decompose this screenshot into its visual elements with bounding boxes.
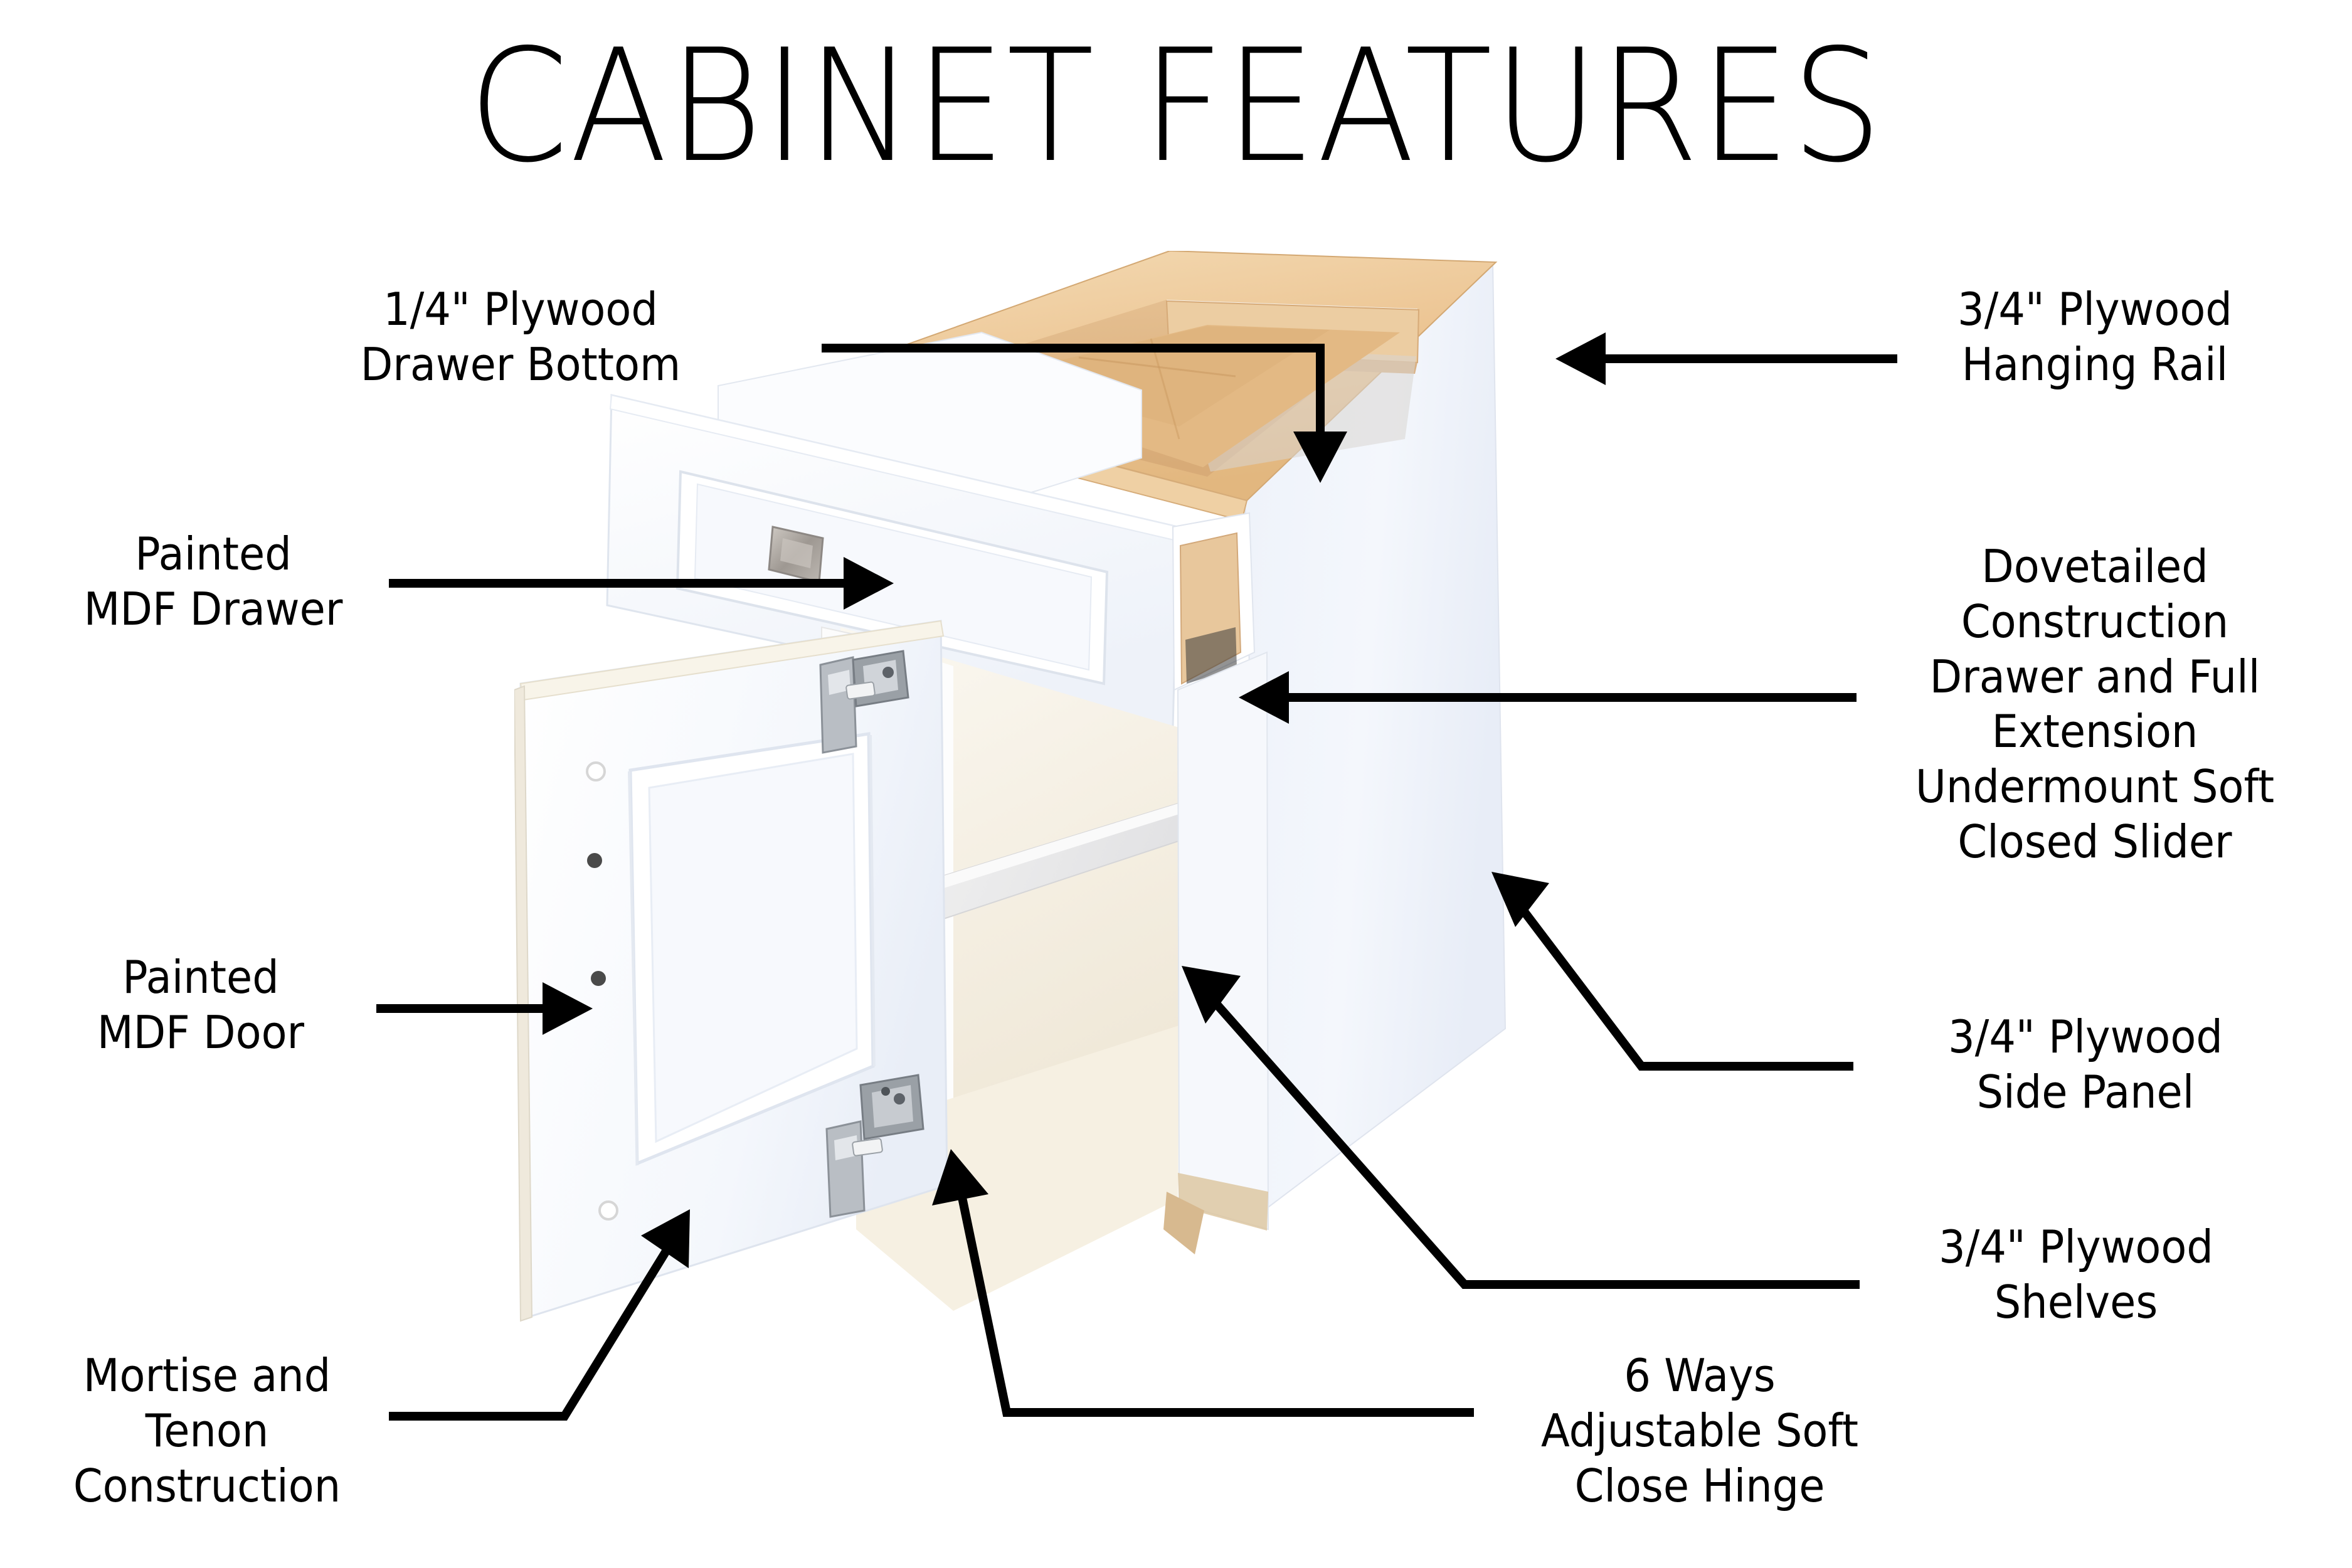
hinge-screw-top [587,853,602,868]
hinge-screw-bottom [591,971,606,986]
door-bumper-bottom [600,1202,617,1219]
label-dovetailed: Dovetailed Construction Drawer and Full … [1885,539,2305,870]
label-shelves: 3/4" Plywood Shelves [1889,1220,2262,1330]
door-bumper-top [587,763,605,780]
label-hinge: 6 Ways Adjustable Soft Close Hinge [1496,1348,1904,1513]
label-drawer-bottom: 1/4" Plywood Drawer Bottom [358,282,684,393]
label-painted-mdf-drawer: Painted MDF Drawer [50,527,377,637]
poster-canvas: CABINET FEATURES [0,0,2352,1568]
cabinet-photo [514,251,1769,1430]
page-title: CABINET FEATURES [94,25,2258,188]
label-mortise-tenon: Mortise and Tenon Construction [38,1348,376,1513]
label-side-panel: 3/4" Plywood Side Panel [1899,1010,2272,1120]
label-painted-mdf-door: Painted MDF Door [38,950,364,1061]
label-hanging-rail: 3/4" Plywood Hanging Rail [1920,282,2270,393]
cabinet-front-stile [1178,652,1268,1229]
